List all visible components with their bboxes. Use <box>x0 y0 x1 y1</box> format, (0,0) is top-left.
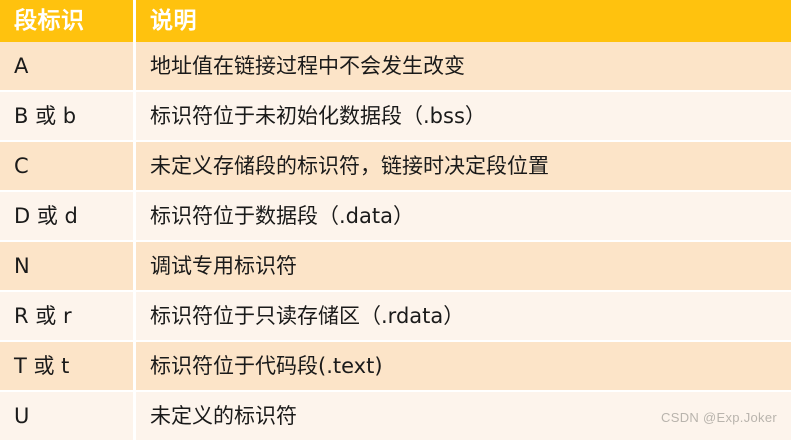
table-row: B 或 b 标识符位于未初始化数据段（.bss） <box>0 92 791 142</box>
cell-description: 标识符位于代码段(.text) <box>136 342 791 392</box>
segment-flag-table-container: 段标识 说明 A 地址值在链接过程中不会发生改变 B 或 b 标识符位于未初始化… <box>0 0 791 433</box>
table-header-row: 段标识 说明 <box>0 0 791 42</box>
cell-flag: N <box>0 242 136 292</box>
table-row: N 调试专用标识符 <box>0 242 791 292</box>
table-row: T 或 t 标识符位于代码段(.text) <box>0 342 791 392</box>
segment-flag-table: 段标识 说明 A 地址值在链接过程中不会发生改变 B 或 b 标识符位于未初始化… <box>0 0 791 440</box>
cell-description: 标识符位于只读存储区（.rdata） <box>136 292 791 342</box>
cell-flag: D 或 d <box>0 192 136 242</box>
cell-description: 标识符位于数据段（.data） <box>136 192 791 242</box>
cell-description: 地址值在链接过程中不会发生改变 <box>136 42 791 92</box>
table-header: 段标识 说明 <box>0 0 791 42</box>
cell-flag: B 或 b <box>0 92 136 142</box>
table-row: R 或 r 标识符位于只读存储区（.rdata） <box>0 292 791 342</box>
table-row: D 或 d 标识符位于数据段（.data） <box>0 192 791 242</box>
table-row: C 未定义存储段的标识符，链接时决定段位置 <box>0 142 791 192</box>
table-row: A 地址值在链接过程中不会发生改变 <box>0 42 791 92</box>
cell-description: 标识符位于未初始化数据段（.bss） <box>136 92 791 142</box>
column-header-flag: 段标识 <box>0 0 136 42</box>
cell-description: 调试专用标识符 <box>136 242 791 292</box>
table-body: A 地址值在链接过程中不会发生改变 B 或 b 标识符位于未初始化数据段（.bs… <box>0 42 791 440</box>
cell-flag: A <box>0 42 136 92</box>
cell-flag: C <box>0 142 136 192</box>
cell-flag: T 或 t <box>0 342 136 392</box>
cell-flag: R 或 r <box>0 292 136 342</box>
column-header-description: 说明 <box>136 0 791 42</box>
cell-description: 未定义存储段的标识符，链接时决定段位置 <box>136 142 791 192</box>
